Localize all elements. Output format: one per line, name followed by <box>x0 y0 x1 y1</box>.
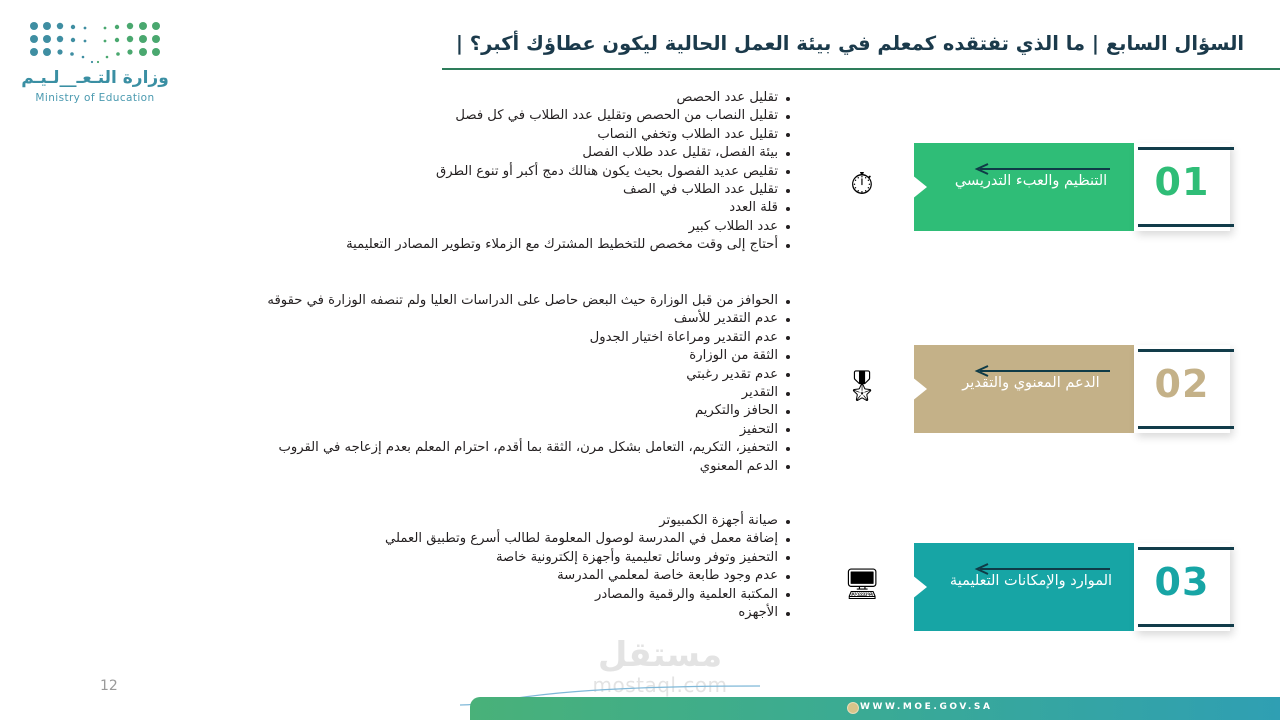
list-item: التحفيز <box>267 421 778 439</box>
answers-list-group-1: تقليل عدد الحصصتقليل النصاب من الحصص وتق… <box>346 89 795 255</box>
category-banner[interactable]: الموارد والإمكانات التعليمية <box>914 543 1134 631</box>
category-label: التنظيم والعبء التدريسي <box>942 171 1120 191</box>
category-number-box: 01 <box>1134 143 1230 231</box>
category-banner[interactable]: التنظيم والعبء التدريسي <box>914 143 1134 231</box>
slide-canvas: وزارة التـعـ__لـيـم Ministry of Educatio… <box>0 0 1280 720</box>
list-item: تقليل عدد الطلاب في الصف <box>346 181 778 199</box>
list-item: عدد الطلاب كبير <box>346 218 778 236</box>
category-number-box: 03 <box>1134 543 1230 631</box>
list-item: صيانة أجهزة الكمبيوتر <box>385 512 778 530</box>
list-item: تقليل عدد الحصص <box>346 89 778 107</box>
category-number: 02 <box>1134 362 1230 406</box>
list-item: الحافز والتكريم <box>267 402 778 420</box>
list-item: عدم تقدير رغبتي <box>267 366 778 384</box>
ministry-of-education-logo: وزارة التـعـ__لـيـم Ministry of Educatio… <box>20 20 170 115</box>
category-banner[interactable]: الدعم المعنوي والتقدير <box>914 345 1134 433</box>
list-item: الأجهزه <box>385 604 778 622</box>
logo-dot-matrix-icon <box>28 20 162 66</box>
list-item: قلة العدد <box>346 199 778 217</box>
number-rule-top <box>1138 547 1234 550</box>
desktop-computer-icon: 🖥 <box>842 565 882 605</box>
watermark-arabic: مستقل <box>555 636 765 674</box>
list-item: التحفيز، التكريم، التعامل بشكل مرن، الثق… <box>267 439 778 457</box>
logo-arabic-text: وزارة التـعـ__لـيـم <box>20 68 170 88</box>
answers-list-group-3: صيانة أجهزة الكمبيوترإضافة معمل في المدر… <box>385 512 795 622</box>
list-item: تقليل عدد الطلاب وتخفي النصاب <box>346 126 778 144</box>
list-item: تقليل النصاب من الحصص وتقليل عدد الطلاب … <box>346 107 778 125</box>
list-item: إضافة معمل في المدرسة لوصول المعلومة لطا… <box>385 530 778 548</box>
number-rule-bottom <box>1138 224 1234 227</box>
list-item: عدم وجود طابعة خاصة لمعلمي المدرسة <box>385 567 778 585</box>
list-item: المكتبة العلمية والرقمية والمصادر <box>385 586 778 604</box>
list-item: التحفيز وتوفر وسائل تعليمية وأجهزة إلكتر… <box>385 549 778 567</box>
list-item: الدعم المعنوي <box>267 458 778 476</box>
category-label: الموارد والإمكانات التعليمية <box>942 571 1120 591</box>
number-rule-bottom <box>1138 426 1234 429</box>
list-item: عدم التقدير ومراعاة اختيار الجدول <box>267 329 778 347</box>
logo-english-text: Ministry of Education <box>20 92 170 104</box>
list-item: تقليص عديد الفصول بحيث يكون هنالك دمج أك… <box>346 163 778 181</box>
list-item: التقدير <box>267 384 778 402</box>
number-rule-top <box>1138 349 1234 352</box>
bullet-list: تقليل عدد الحصصتقليل النصاب من الحصص وتق… <box>346 89 795 255</box>
list-item: بيئة الفصل، تقليل عدد طلاب الفصل <box>346 144 778 162</box>
list-item: الثقة من الوزارة <box>267 347 778 365</box>
stopwatch-icon: ⏱ <box>842 165 882 205</box>
slide-title: السؤال السابع | ما الذي تفتقده كمعلم في … <box>430 32 1270 55</box>
bullet-list: الحوافز من قبل الوزارة حيث البعض حاصل عل… <box>267 292 795 476</box>
list-item: أحتاج إلى وقت مخصص للتخطيط المشترك مع ال… <box>346 236 778 254</box>
list-item: الحوافز من قبل الوزارة حيث البعض حاصل عل… <box>267 292 778 310</box>
title-underline-rule <box>442 68 1280 70</box>
medal-icon: 🎖 <box>842 367 882 407</box>
category-number: 01 <box>1134 160 1230 204</box>
list-item: عدم التقدير للأسف <box>267 310 778 328</box>
answers-list-group-2: الحوافز من قبل الوزارة حيث البعض حاصل عل… <box>267 292 795 476</box>
number-rule-bottom <box>1138 624 1234 627</box>
footer-website-url[interactable]: WWW.MOE.GOV.SA <box>860 702 993 712</box>
globe-icon <box>847 702 859 714</box>
category-number-box: 02 <box>1134 345 1230 433</box>
category-label: الدعم المعنوي والتقدير <box>942 373 1120 393</box>
number-rule-top <box>1138 147 1234 150</box>
category-number: 03 <box>1134 560 1230 604</box>
page-number: 12 <box>100 678 118 694</box>
bullet-list: صيانة أجهزة الكمبيوترإضافة معمل في المدر… <box>385 512 795 622</box>
